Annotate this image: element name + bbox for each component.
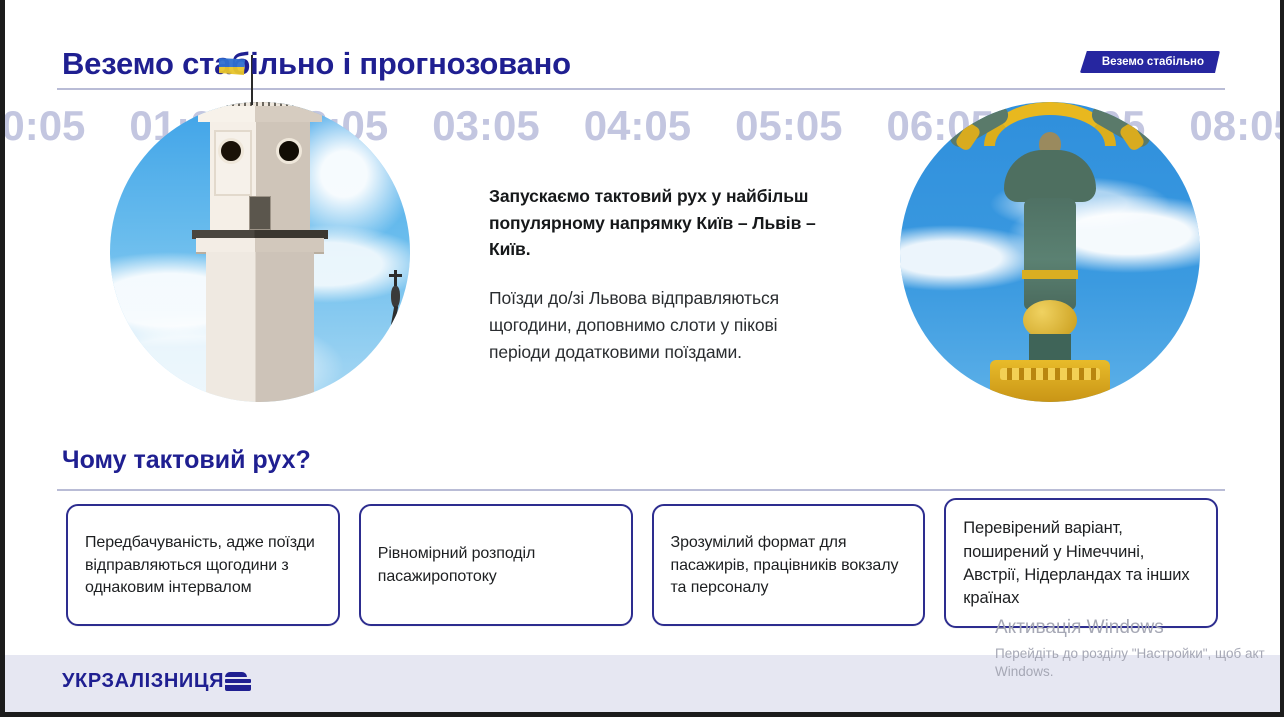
slide-canvas: 00:05 01:05 02:05 03:05 04:05 05:05 06:0… [0, 0, 1284, 717]
section-title: Чому тактовий рух? [62, 446, 311, 475]
clock-tower-illustration [192, 134, 328, 402]
clock-face-icon [218, 138, 244, 164]
photo-independence-monument [900, 102, 1200, 402]
timeline-time: 03:05 [432, 102, 539, 150]
ukrzaliznytsia-logo: УКРЗАЛІЗНИЦЯ [62, 670, 251, 693]
benefit-card[interactable]: Передбачуваність, адже поїзди відправляю… [66, 504, 340, 626]
section-divider [57, 489, 1225, 491]
copy-body: Поїзди до/зі Львова відправляються щогод… [489, 285, 834, 366]
benefit-cards: Передбачуваність, адже поїзди відправляю… [66, 504, 1218, 634]
benefit-card-text: Перевірений варіант, поширений у Німеччи… [963, 517, 1200, 611]
header-divider [57, 88, 1225, 90]
clock-face-icon [276, 138, 302, 164]
frame-edge-bottom [0, 712, 1284, 717]
benefit-card-text: Зрозумілий формат для пасажирів, працівн… [671, 532, 908, 600]
frame-edge-right [1280, 0, 1284, 717]
benefit-card[interactable]: Перевірений варіант, поширений у Німеччи… [944, 498, 1218, 628]
timeline-time: 05:05 [735, 102, 842, 150]
train-mark-icon [225, 672, 251, 691]
copy-lead: Запускаємо тактовий рух у найбільш попул… [489, 183, 834, 263]
benefit-card-text: Рівномірний розподіл пасажиропотоку [378, 543, 615, 588]
main-copy: Запускаємо тактовий рух у найбільш попул… [489, 183, 834, 366]
timeline-time: 04:05 [584, 102, 691, 150]
benefit-card[interactable]: Зрозумілий формат для пасажирів, працівн… [652, 504, 926, 626]
timeline-time: 08:05 [1189, 102, 1284, 150]
footer-bar: УКРЗАЛІЗНИЦЯ [0, 655, 1284, 712]
logo-text: УКРЗАЛІЗНИЦЯ [62, 670, 224, 693]
benefit-card[interactable]: Рівномірний розподіл пасажиропотоку [359, 504, 633, 626]
frame-edge-left [0, 0, 5, 717]
berehynia-statue-illustration [935, 102, 1165, 402]
benefit-card-text: Передбачуваність, адже поїзди відправляю… [85, 532, 322, 600]
street-lamp-icon [388, 270, 404, 332]
status-badge: Веземо стабільно [1080, 51, 1220, 73]
page-title: Веземо стабільно і прогнозовано [62, 46, 571, 82]
ukraine-flag-icon [219, 58, 245, 75]
timeline-time: 00:05 [0, 102, 85, 150]
photo-lviv-city-hall [110, 102, 410, 402]
